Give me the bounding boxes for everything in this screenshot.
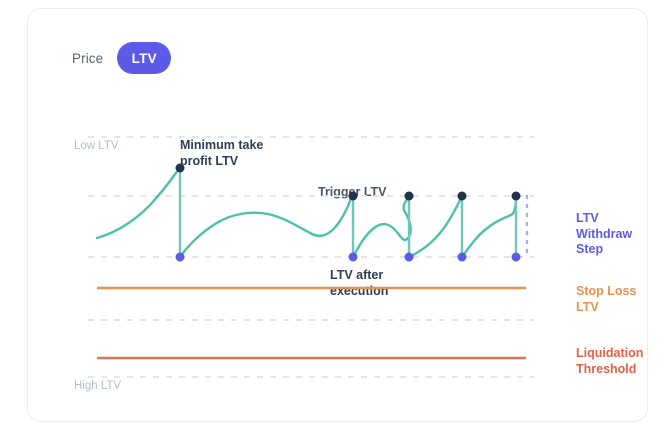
annotation-minimum-take-profit: Minimum take profit LTV xyxy=(180,138,263,169)
screenshot-root: Price LTV Low LTV High LTV Minimum take … xyxy=(0,0,665,448)
annotation-line-1: LTV after xyxy=(330,268,388,284)
annotation-trigger-ltv: Trigger LTV xyxy=(318,185,387,201)
legend-item-price[interactable]: Price xyxy=(72,51,103,66)
side-label-line-2: LTV xyxy=(576,300,636,316)
side-label-line-1: Stop Loss xyxy=(576,284,636,300)
side-label-line-2: Withdraw xyxy=(576,227,632,243)
side-label-line-3: Step xyxy=(576,242,632,258)
axis-label-low-ltv: Low LTV xyxy=(74,140,119,152)
side-label-ltv-withdraw-step: LTV Withdraw Step xyxy=(576,211,632,258)
axis-label-high-ltv: High LTV xyxy=(74,380,121,392)
annotation-line-2: profit LTV xyxy=(180,154,263,170)
ltv-chart-card: Price LTV Low LTV High LTV Minimum take … xyxy=(27,8,648,422)
side-label-line-1: Liquidation xyxy=(576,346,643,362)
side-label-stop-loss-ltv: Stop Loss LTV xyxy=(576,284,636,315)
chart-legend: Price LTV xyxy=(72,42,171,74)
side-label-line-1: LTV xyxy=(576,211,632,227)
side-label-line-2: Threshold xyxy=(576,362,643,378)
annotation-ltv-after-execution: LTV after execution xyxy=(330,268,388,299)
annotation-line-2: execution xyxy=(330,284,388,300)
side-label-liquidation-threshold: Liquidation Threshold xyxy=(576,346,643,377)
legend-item-ltv[interactable]: LTV xyxy=(117,42,171,74)
annotation-line-1: Trigger LTV xyxy=(318,185,387,201)
annotation-line-1: Minimum take xyxy=(180,138,263,154)
